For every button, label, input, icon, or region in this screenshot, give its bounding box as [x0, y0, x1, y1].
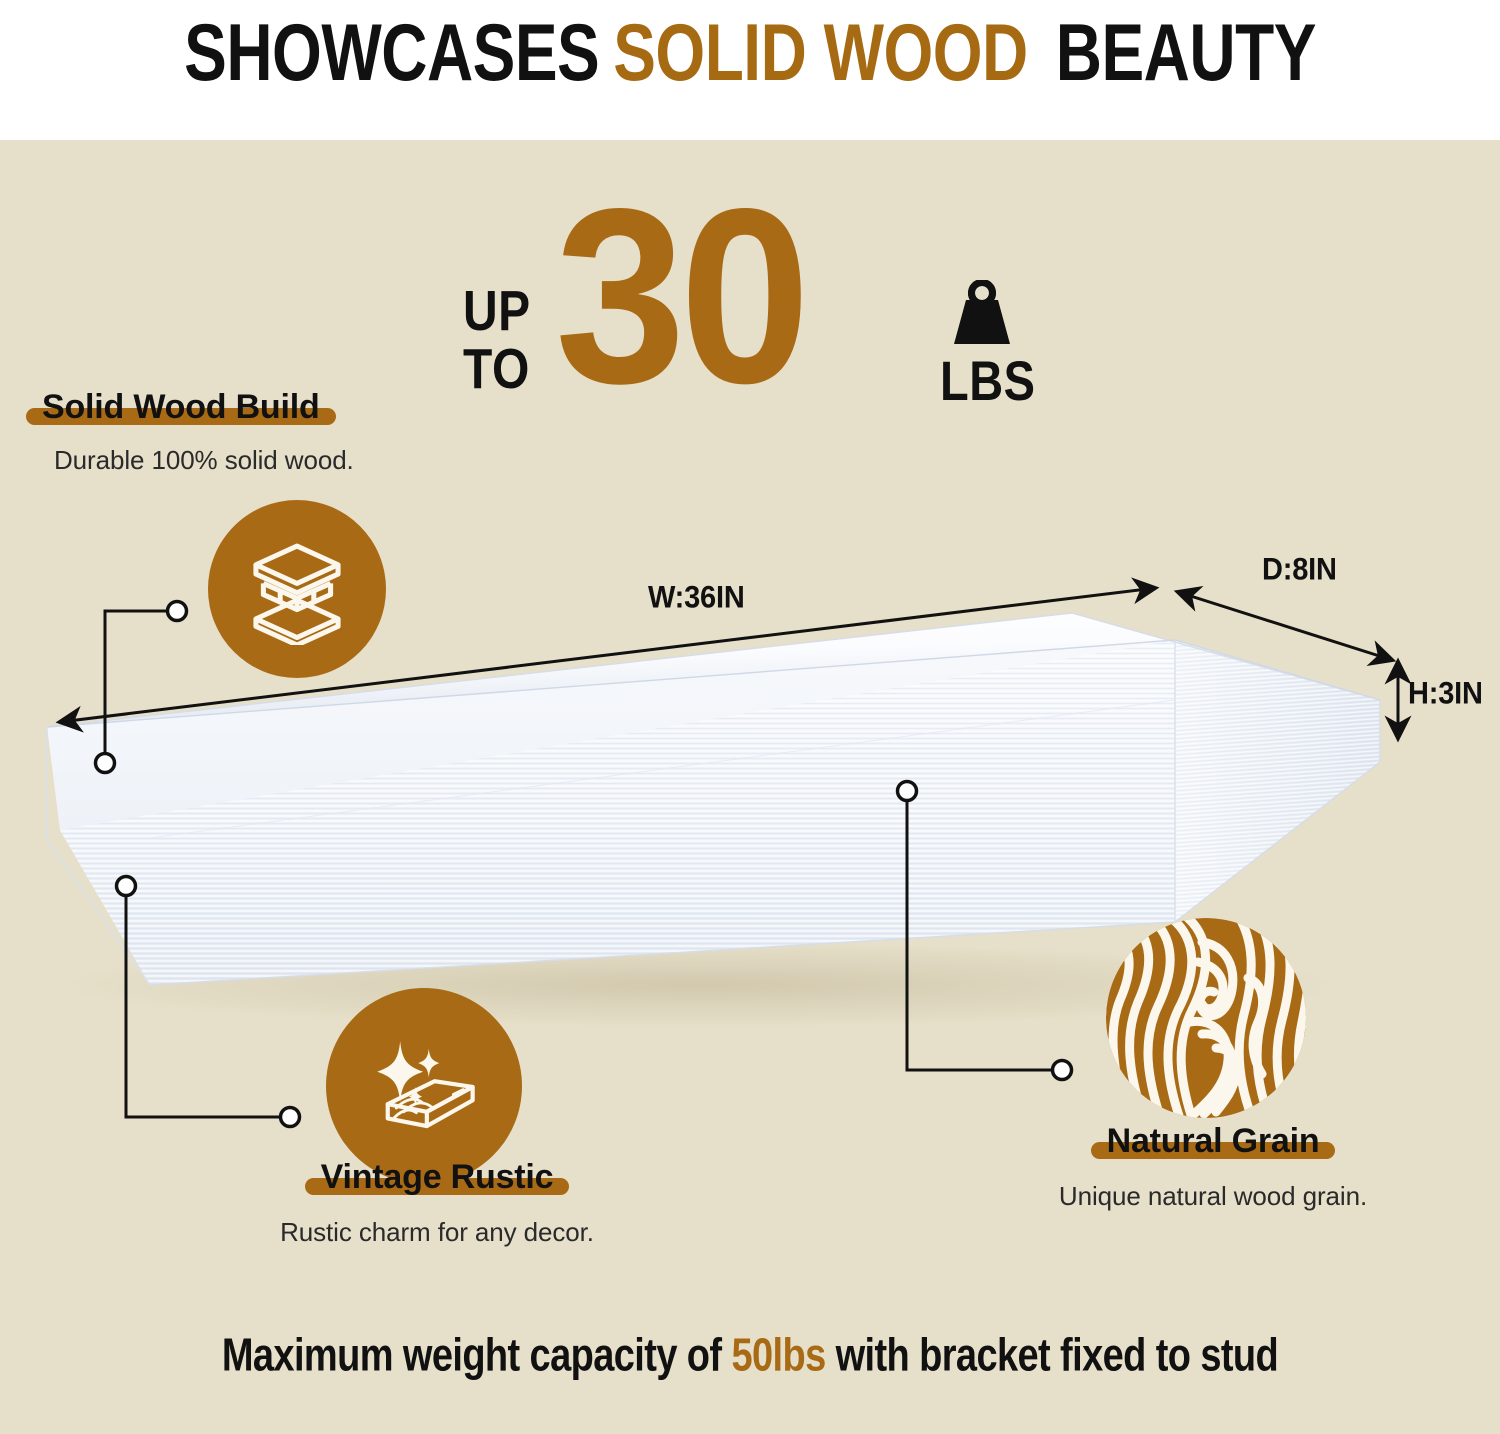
feature-title-natural-grain: Natural Grain: [1103, 1122, 1324, 1161]
title-part-one: SHOWCASES: [184, 6, 599, 99]
capacity-up-to-label: UP TO: [463, 283, 531, 400]
capacity-up-label: UP: [463, 283, 531, 341]
width-dimension-label: W:36IN: [648, 580, 745, 616]
weight-icon: [942, 280, 1022, 350]
statement-accent-value: 50lbs: [731, 1330, 825, 1381]
feature-subtitle-vintage-rustic: Rustic charm for any decor.: [272, 1217, 602, 1248]
feature-solid-wood-build: Solid Wood Build Durable 100% solid wood…: [38, 388, 354, 476]
weight-capacity-callout: UP TO 30 LBS: [455, 185, 1075, 420]
title-accent: SOLID WOOD: [613, 6, 1028, 99]
feature-vintage-rustic: Vintage Rustic Rustic charm for any deco…: [272, 1158, 602, 1248]
capacity-unit-label: LBS: [940, 348, 1036, 413]
height-dimension-label: H:3IN: [1408, 676, 1483, 712]
feature-title-text: Natural Grain: [1107, 1122, 1320, 1160]
feature-title-solid-wood: Solid Wood Build: [38, 388, 324, 427]
capacity-number: 30: [555, 171, 804, 420]
max-capacity-statement: Maximum weight capacity of 50lbs with br…: [0, 1330, 1500, 1382]
depth-dimension-label: D:8IN: [1262, 552, 1337, 588]
wood-grain-icon: [1106, 918, 1306, 1118]
feature-subtitle-natural-grain: Unique natural wood grain.: [1048, 1181, 1378, 1212]
statement-text-before: Maximum weight capacity of: [222, 1330, 732, 1381]
wood-layers-icon: [208, 500, 386, 678]
feature-subtitle-solid-wood: Durable 100% solid wood.: [54, 445, 354, 476]
sparkle-plank-icon: [326, 988, 522, 1184]
feature-natural-grain: Natural Grain Unique natural wood grain.: [1048, 1122, 1378, 1212]
feature-title-text: Solid Wood Build: [42, 388, 320, 426]
title-part-two: BEAUTY: [1056, 6, 1316, 99]
statement-text-after: with bracket fixed to stud: [826, 1330, 1279, 1381]
feature-title-text: Vintage Rustic: [321, 1158, 554, 1196]
feature-title-vintage-rustic: Vintage Rustic: [317, 1158, 558, 1197]
capacity-to-label: TO: [463, 341, 531, 399]
infographic-canvas: SHOWCASES SOLID WOOD BEAUTY: [0, 0, 1500, 1434]
page-title: SHOWCASES SOLID WOOD BEAUTY: [0, 0, 1500, 106]
